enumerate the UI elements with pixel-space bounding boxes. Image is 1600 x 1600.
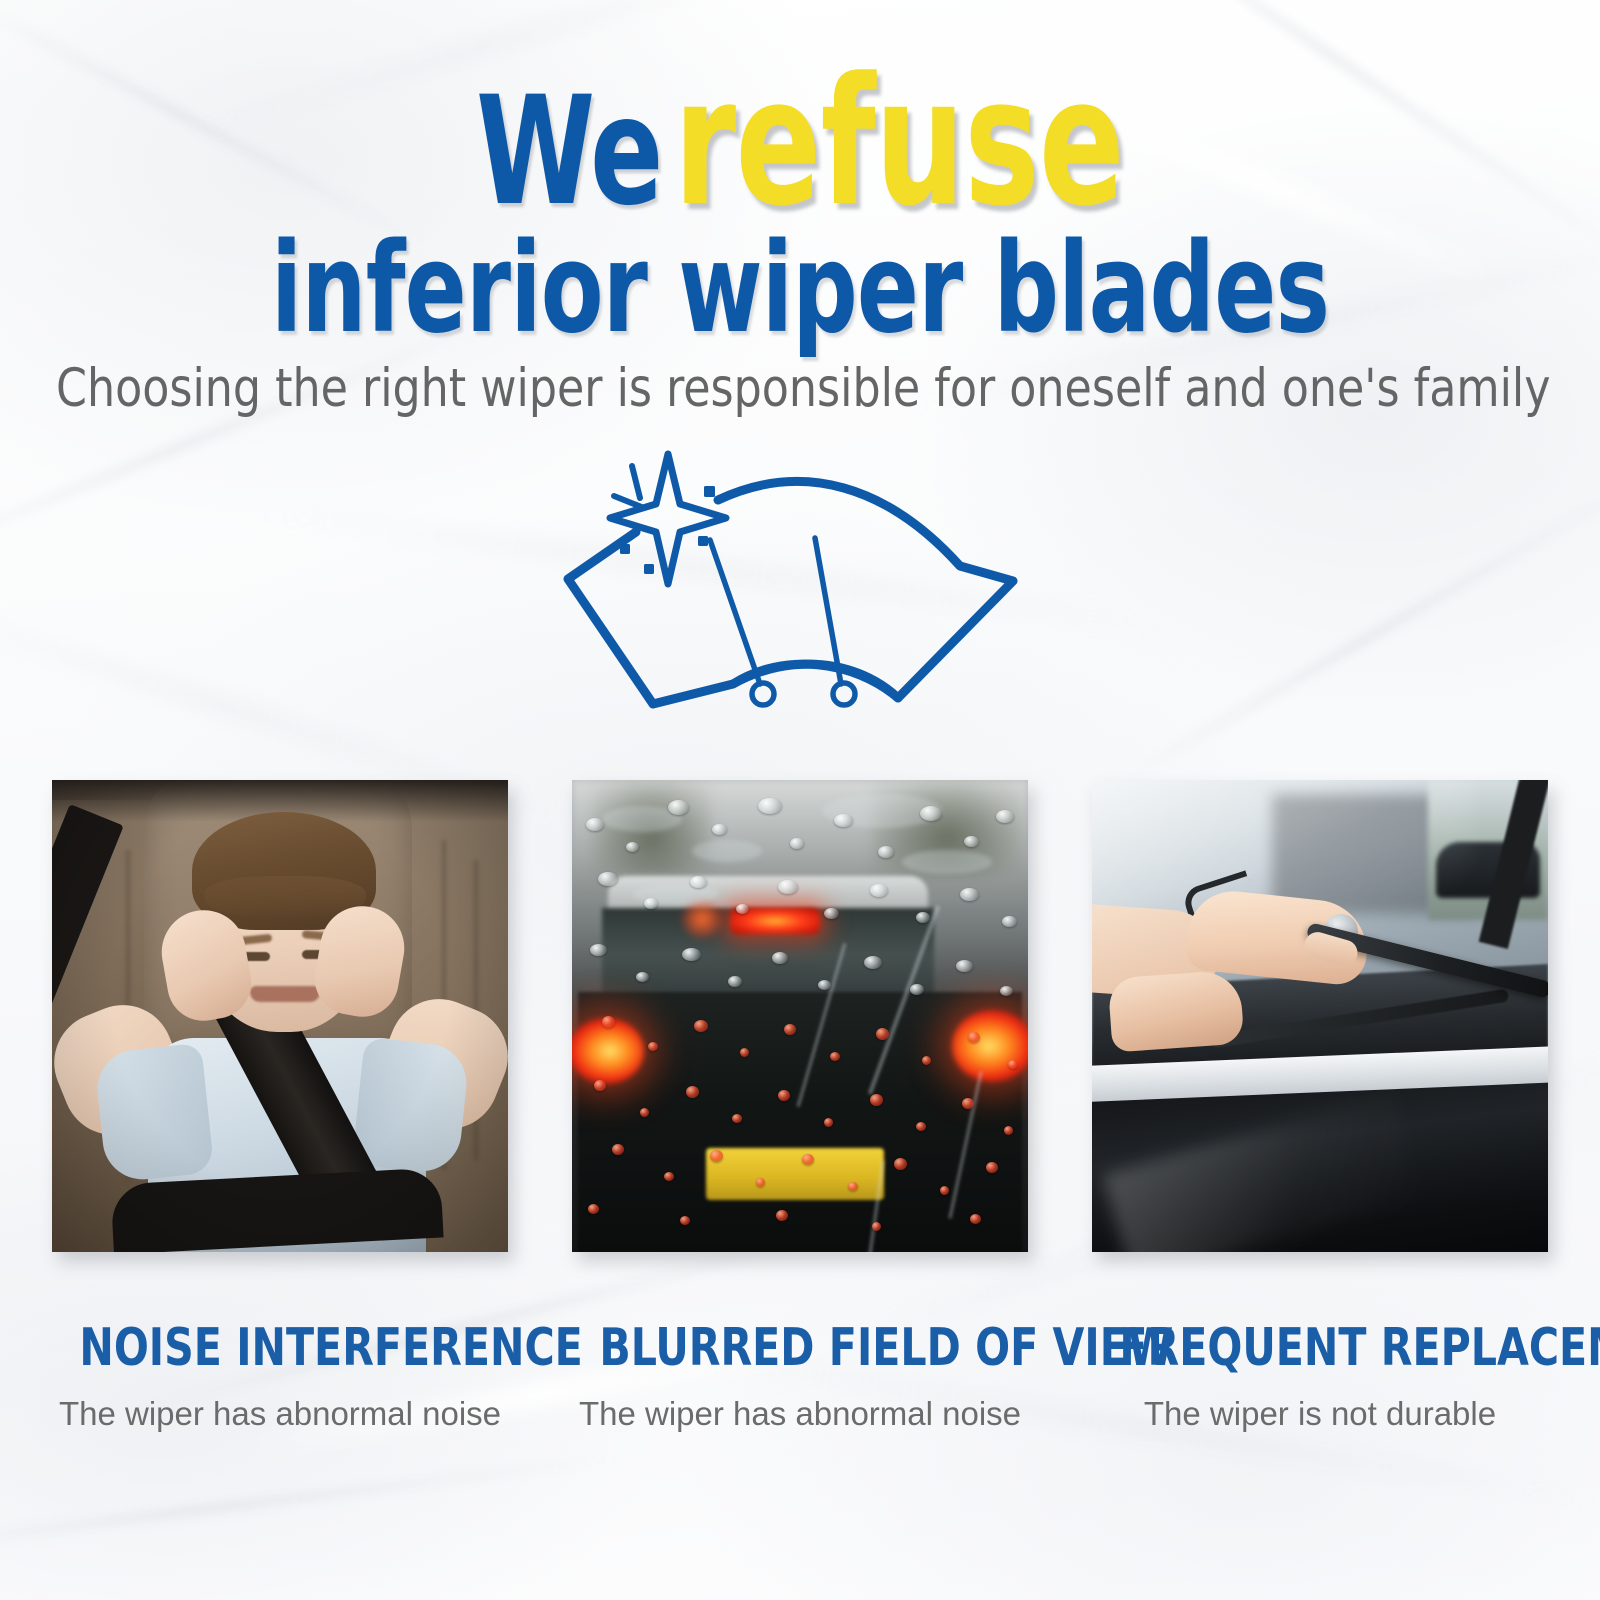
feature-photo-2 [572,780,1028,1252]
headline-line-1: Werefuse [160,62,1440,224]
feature-photo-1 [52,780,508,1252]
feature-subtitle-2: The wiper has abnormal noise [572,1396,1028,1432]
feature-caption-3: FREQUENT REPLACEMENT The wiper is not du… [1092,1322,1548,1432]
feature-caption-row: NOISE INTERFERENCE The wiper has abnorma… [52,1322,1548,1432]
rainy-blurred-windshield-view [572,780,1028,1252]
feature-caption-2: BLURRED FIELD OF VIEW The wiper has abno… [572,1322,1028,1432]
headline-word-we: We [476,65,662,239]
hand-replacing-wiper-blade [1092,780,1548,1252]
windshield-wiper-sparkle-icon [558,448,1028,713]
feature-subtitle-3: The wiper is not durable [1092,1396,1548,1432]
headline: Werefuse inferior wiper blades [0,62,1600,346]
feature-subtitle-1: The wiper has abnormal noise [52,1396,508,1432]
feature-title-2: BLURRED FIELD OF VIEW [599,1322,1000,1374]
headline-line-2: inferior wiper blades [144,232,1456,346]
child-covering-ears-in-car-seat [52,780,508,1252]
feature-photo-row [52,780,1548,1270]
headline-word-refuse: refuse [674,40,1124,245]
subtitle: Choosing the right wiper is responsible … [56,358,1544,419]
feature-title-3: FREQUENT REPLACEMENT [1119,1322,1520,1374]
feature-caption-1: NOISE INTERFERENCE The wiper has abnorma… [52,1322,508,1432]
feature-title-1: NOISE INTERFERENCE [79,1322,480,1374]
wiper-blades-promo-poster: Werefuse inferior wiper blades Choosing … [0,0,1600,1600]
feature-photo-3 [1092,780,1548,1252]
